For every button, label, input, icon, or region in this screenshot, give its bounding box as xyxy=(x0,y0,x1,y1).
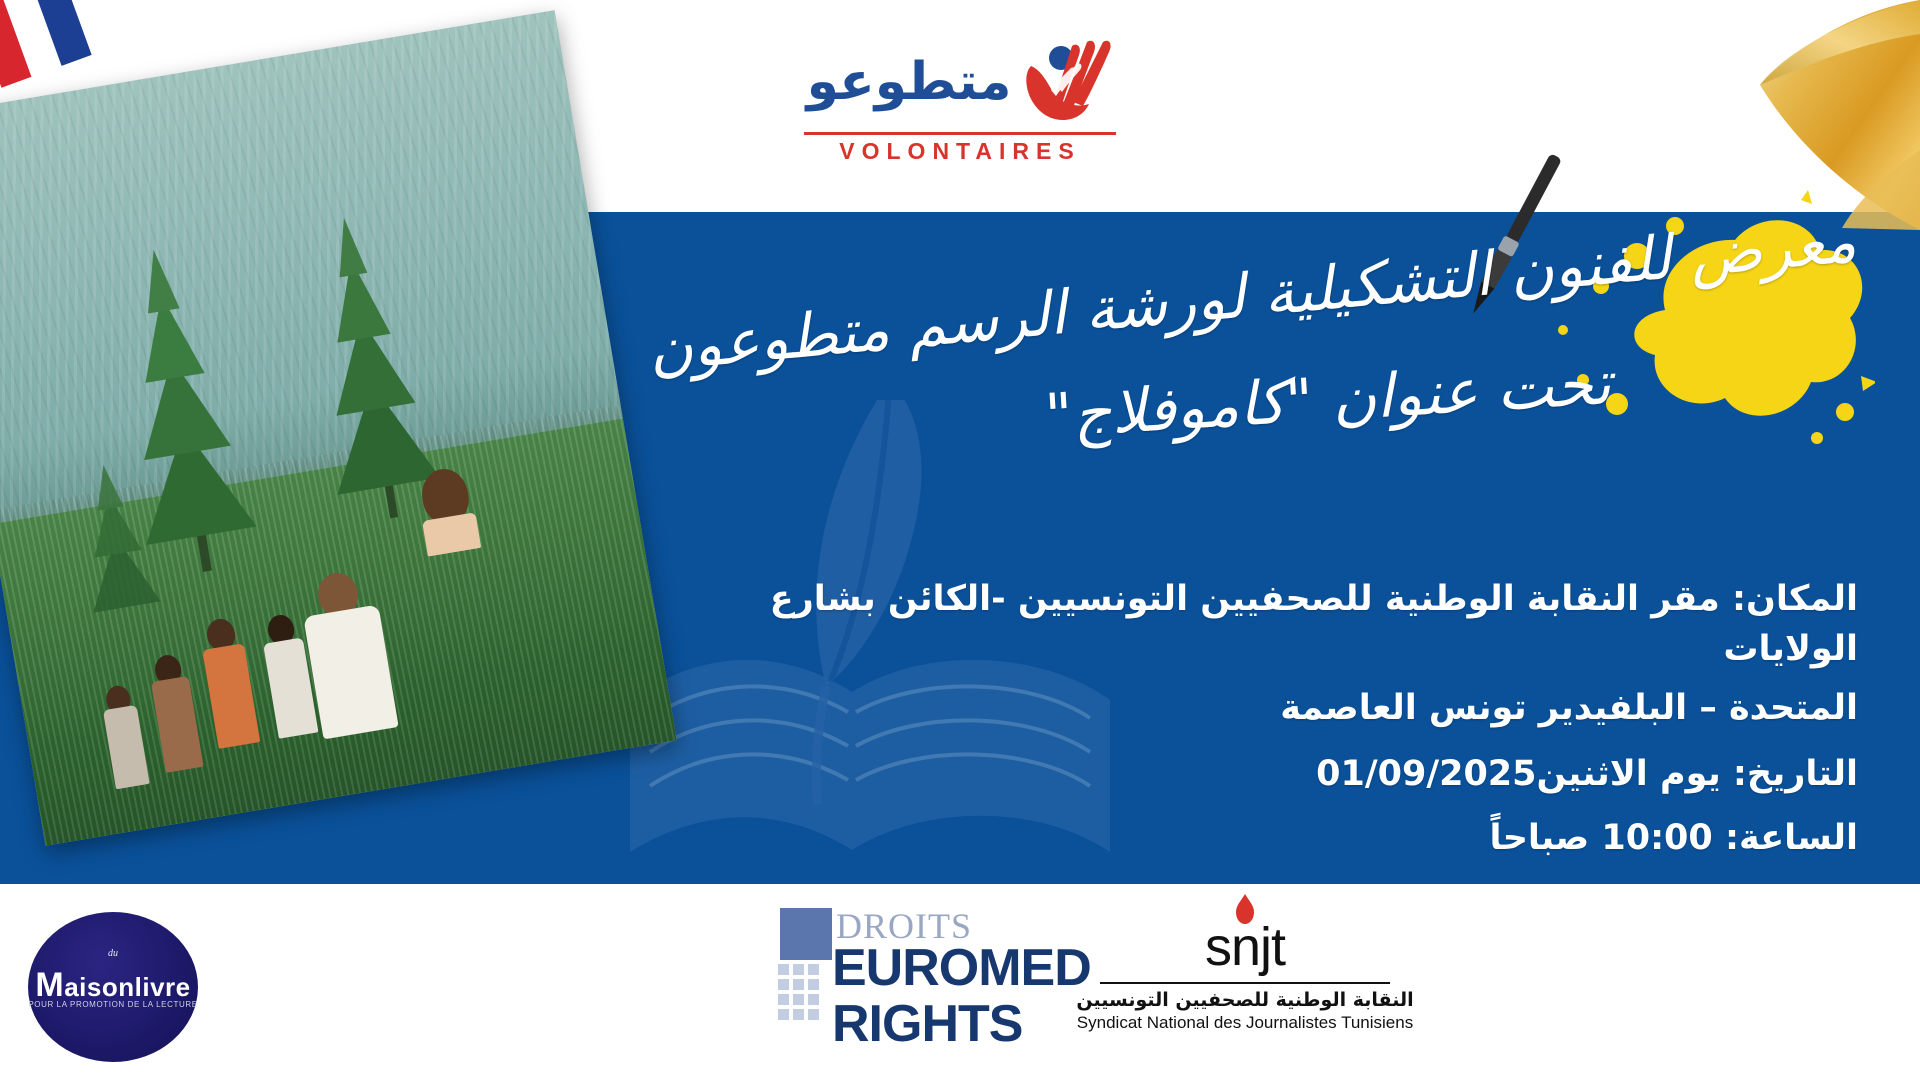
time-value: 10:00 صباحاً xyxy=(1490,818,1713,858)
snjt-divider xyxy=(1100,982,1390,984)
euromed-rights-logo: DROITS EUROMED RIGHTS xyxy=(770,902,1110,1072)
maison-du-livre-logo: du Maisonlivre POUR LA PROMOTION DE LA L… xyxy=(28,908,208,1068)
event-title: معرض للفنون التشكيلية لورشة الرسم متطوعو… xyxy=(798,255,1858,435)
flame-icon xyxy=(1232,894,1258,924)
date-number: 01/09/2025 xyxy=(1316,750,1536,800)
maison-name-rest: aison xyxy=(64,972,134,1002)
maison-name-second: livre xyxy=(135,972,191,1002)
snjt-arabic-name: النقابة الوطنية للصحفيين التونسيين xyxy=(1070,990,1420,1011)
snjt-logo: snjt النقابة الوطنية للصحفيين التونسيين … xyxy=(1070,898,1420,1073)
euromed-main-text: EUROMED xyxy=(832,942,1091,994)
date-label: التاريخ: xyxy=(1733,754,1858,794)
poster-root: متطوعو VOLONTAIRES معرض للفنون التشكيلية… xyxy=(0,0,1920,1080)
snjt-abbr: snjt xyxy=(1070,920,1420,974)
date-value: يوم الاثنين xyxy=(1537,754,1721,794)
venue-text-1: مقر النقابة الوطنية للصحفيين التونسيين -… xyxy=(770,579,1858,669)
euromed-dots-icon xyxy=(778,964,818,1040)
maison-subtitle: POUR LA PROMOTION DE LA LECTURE xyxy=(28,1000,198,1009)
logo-arabic-name: متطوعو xyxy=(807,56,1012,108)
venue-line-1: المكان: مقر النقابة الوطنية للصحفيين الت… xyxy=(748,575,1858,674)
time-line: الساعة: 10:00 صباحاً xyxy=(748,814,1858,864)
logo-latin-name: VOLONTAIRES xyxy=(750,138,1170,165)
euromed-rights-text: RIGHTS xyxy=(832,998,1022,1050)
event-details: المكان: مقر النقابة الوطنية للصحفيين الت… xyxy=(748,575,1858,863)
time-label: الساعة: xyxy=(1725,818,1858,858)
date-line: التاريخ: يوم الاثنين01/09/2025 xyxy=(748,750,1858,800)
maison-initial: M xyxy=(35,966,64,1004)
gold-page-curl-icon xyxy=(1590,0,1920,250)
snjt-french-name: Syndicat National des Journalistes Tunis… xyxy=(1070,1013,1420,1033)
maison-top-text: du xyxy=(28,948,198,959)
logo-divider xyxy=(804,132,1116,135)
venue-line-2: المتحدة – البلفيدير تونس العاصمة xyxy=(748,684,1858,734)
venue-label: المكان: xyxy=(1732,579,1858,619)
artwork-photo xyxy=(0,10,677,845)
euromed-square-icon xyxy=(780,908,832,960)
hand-icon xyxy=(1017,34,1113,130)
volontaires-logo: متطوعو VOLONTAIRES xyxy=(750,34,1170,174)
